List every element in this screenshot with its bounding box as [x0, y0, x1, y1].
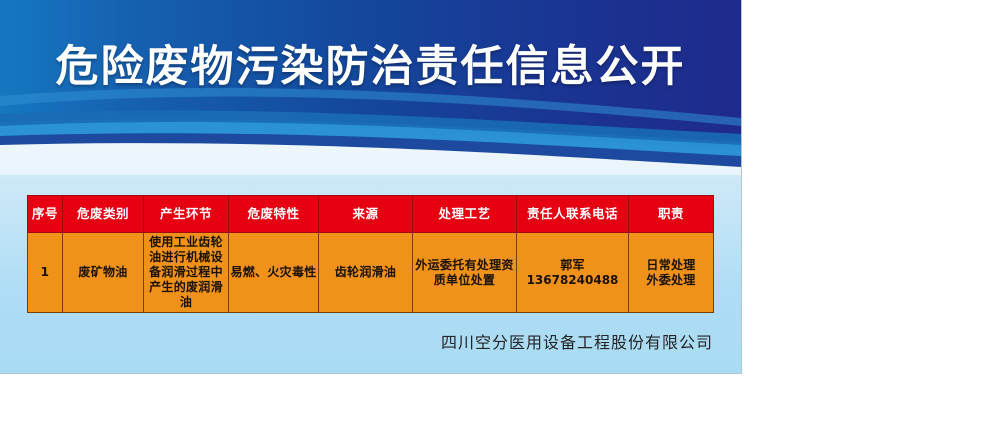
cell-index: 1 — [28, 233, 63, 313]
page-title: 危险废物污染防治责任信息公开 — [0, 46, 741, 89]
cell-category: 废矿物油 — [63, 233, 144, 313]
hazardous-waste-table: 序号 危废类别 产生环节 危废特性 来源 处理工艺 责任人联系电话 职责 1 废… — [27, 195, 714, 313]
company-name: 四川空分医用设备工程股份有限公司 — [0, 329, 713, 353]
table-header-category: 危废类别 — [63, 196, 144, 233]
table-header-row: 序号 危废类别 产生环节 危废特性 来源 处理工艺 责任人联系电话 职责 — [28, 196, 714, 233]
table-header-process: 处理工艺 — [413, 196, 517, 233]
table-header-duty: 职责 — [629, 196, 714, 233]
poster-canvas: 危险废物污染防治责任信息公开 序号 危废类别 产生环节 危废特性 来源 处理工艺… — [0, 0, 741, 373]
table-header-index: 序号 — [28, 196, 63, 233]
table-header-source: 来源 — [319, 196, 413, 233]
table-row: 1 废矿物油 使用工业齿轮油进行机械设备润滑过程中产生的废润滑油 易燃、火灾毒性… — [28, 233, 714, 313]
duty-line-2: 外委处理 — [630, 273, 712, 288]
cell-process: 外运委托有处理资质单位处置 — [413, 233, 517, 313]
banner-header: 危险废物污染防治责任信息公开 — [0, 0, 741, 175]
table-header-stage: 产生环节 — [144, 196, 229, 233]
duty-line-1: 日常处理 — [630, 258, 712, 273]
contact-name: 郭军 — [518, 258, 627, 273]
cell-characteristics: 易燃、火灾毒性 — [229, 233, 319, 313]
table-header-contact: 责任人联系电话 — [517, 196, 629, 233]
table-header-characteristics: 危废特性 — [229, 196, 319, 233]
contact-phone: 13678240488 — [518, 273, 627, 288]
cell-duty: 日常处理 外委处理 — [629, 233, 714, 313]
cell-source: 齿轮润滑油 — [319, 233, 413, 313]
cell-contact: 郭军 13678240488 — [517, 233, 629, 313]
cell-stage: 使用工业齿轮油进行机械设备润滑过程中产生的废润滑油 — [144, 233, 229, 313]
